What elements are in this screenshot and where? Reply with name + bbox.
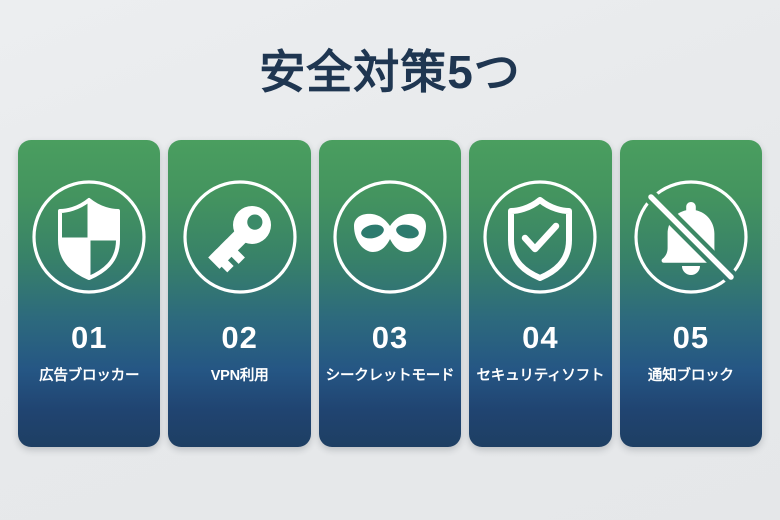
card-01-ad-blocker[interactable]: 01 広告ブロッカー [18, 140, 160, 447]
card-03-secret-mode[interactable]: 03 シークレットモード [319, 140, 461, 447]
icon-container [319, 178, 461, 296]
card-number: 01 [18, 320, 160, 356]
slide-canvas: 安全対策5つ [0, 0, 780, 520]
icon-container [168, 178, 310, 296]
card-number: 02 [168, 320, 310, 356]
icon-container [18, 178, 160, 296]
card-02-vpn[interactable]: 02 VPN利用 [168, 140, 310, 447]
shield-quadrant-icon [30, 178, 148, 296]
security-measures-card-row: 01 広告ブロッカー [18, 140, 762, 447]
card-label: セキュリティソフト [469, 366, 611, 386]
mask-icon [331, 178, 449, 296]
icon-container [469, 178, 611, 296]
key-icon [181, 178, 299, 296]
card-label: シークレットモード [319, 366, 461, 386]
icon-container [620, 178, 762, 296]
page-title: 安全対策5つ [0, 44, 780, 100]
card-label: 通知ブロック [620, 366, 762, 386]
card-label: VPN利用 [168, 366, 310, 386]
card-number: 05 [620, 320, 762, 356]
card-number: 03 [319, 320, 461, 356]
bell-slash-icon [632, 178, 750, 296]
card-04-security-software[interactable]: 04 セキュリティソフト [469, 140, 611, 447]
shield-check-icon [481, 178, 599, 296]
card-label: 広告ブロッカー [18, 366, 160, 386]
card-number: 04 [469, 320, 611, 356]
card-05-notification-block[interactable]: 05 通知ブロック [620, 140, 762, 447]
